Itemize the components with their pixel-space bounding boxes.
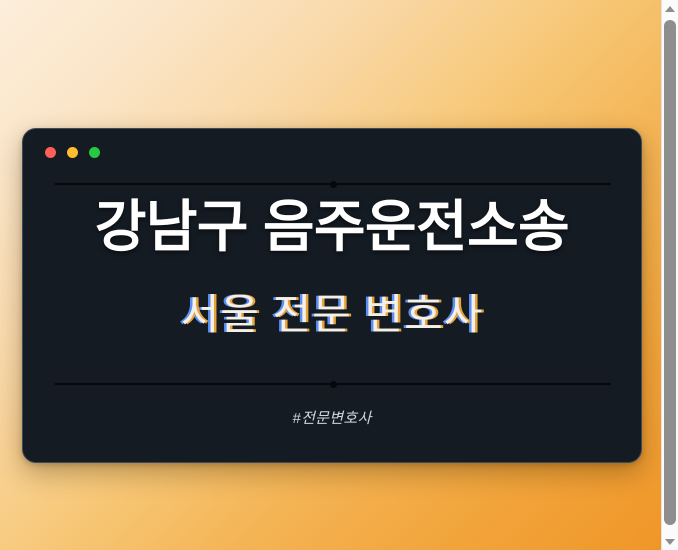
- subtitle-text: 서울 전문 변호사: [181, 291, 484, 338]
- scrollbar-thumb[interactable]: [664, 20, 676, 525]
- minimize-icon[interactable]: [67, 147, 78, 158]
- vertical-scrollbar[interactable]: [661, 0, 678, 550]
- card-subtitle-wrapper: 서울 전문 변호사 서울 전문 변호사 서울 전문 변호사: [23, 289, 641, 349]
- scroll-down-button[interactable]: [662, 533, 678, 550]
- preview-card: 강남구 음주운전소송 서울 전문 변호사 서울 전문 변호사 서울 전문 변호사…: [22, 128, 642, 463]
- divider-node-icon: [330, 181, 337, 188]
- chevron-up-icon: [665, 6, 675, 12]
- scroll-up-button[interactable]: [662, 0, 678, 17]
- divider-bottom: [55, 377, 611, 391]
- window-controls: [45, 147, 100, 158]
- maximize-icon[interactable]: [89, 147, 100, 158]
- divider-top: [55, 177, 611, 191]
- card-subtitle: 서울 전문 변호사 서울 전문 변호사 서울 전문 변호사: [181, 289, 484, 342]
- close-icon[interactable]: [45, 147, 56, 158]
- chevron-down-icon: [665, 539, 675, 545]
- card-title: 강남구 음주운전소송: [23, 197, 641, 257]
- card-hashtag: #전문변호사: [23, 407, 641, 428]
- divider-node-icon: [330, 381, 337, 388]
- page-viewport: 강남구 음주운전소송 서울 전문 변호사 서울 전문 변호사 서울 전문 변호사…: [0, 0, 661, 550]
- page-background: 강남구 음주운전소송 서울 전문 변호사 서울 전문 변호사 서울 전문 변호사…: [0, 0, 678, 550]
